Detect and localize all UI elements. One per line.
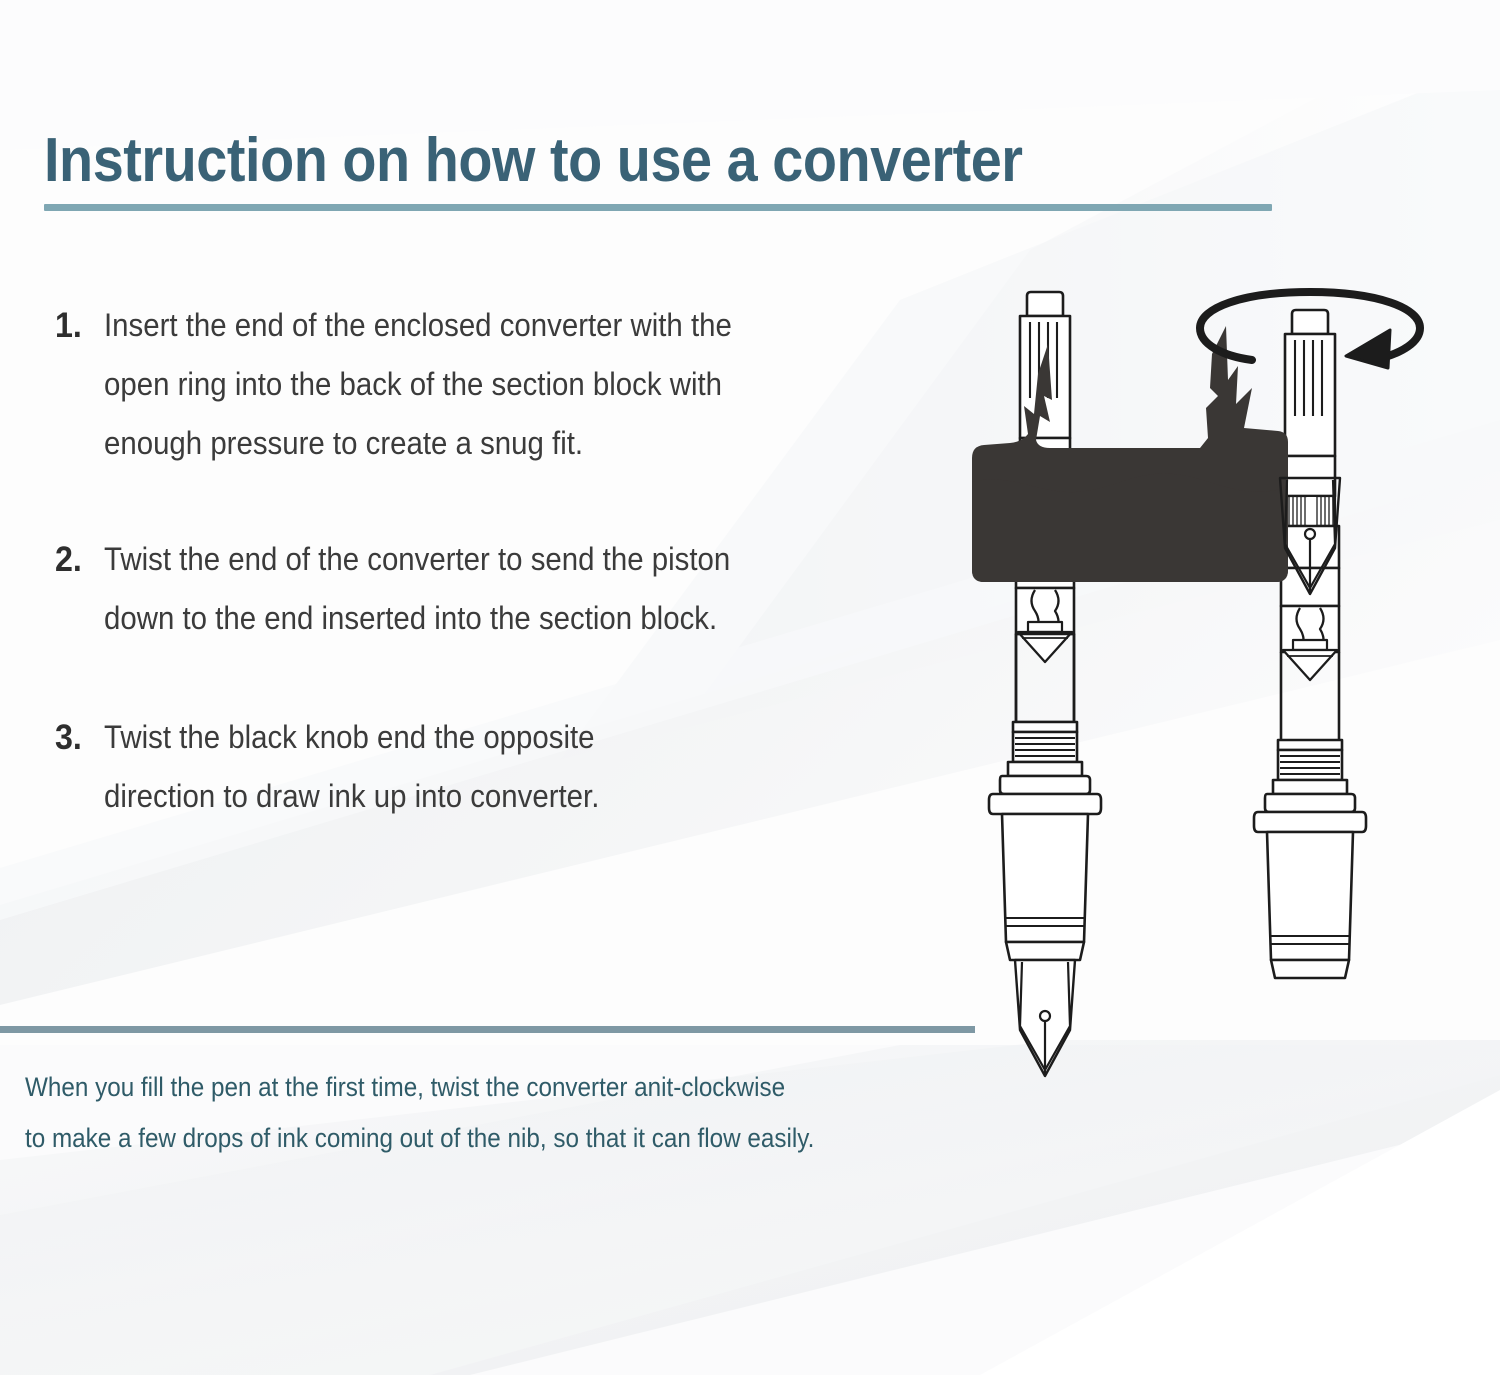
converter-knob-cap (1027, 292, 1063, 316)
step-text: Twist the black knob end the opposite di… (104, 708, 901, 826)
list-item-step-1: 1. Insert the end of the enclosed conver… (55, 296, 985, 473)
pen-nib (1015, 960, 1075, 1076)
section-thread-collar (1000, 722, 1090, 794)
step-text: Twist the end of the converter to send t… (104, 530, 901, 648)
pen-section-grip (1002, 814, 1088, 960)
section-thread-collar (1265, 740, 1355, 812)
converter-knob-cap (1292, 310, 1328, 334)
converter-knob-barrel (1285, 334, 1335, 456)
footer-note-text: When you fill the pen at the first time,… (25, 1062, 958, 1164)
list-item-step-3: 3. Twist the black knob end the opposite… (55, 708, 985, 826)
instruction-page: Instruction on how to use a converter 1.… (0, 0, 1500, 1375)
step-number: 1. (55, 296, 82, 355)
step-text: Insert the end of the enclosed converter… (104, 296, 901, 473)
section-flange (989, 794, 1101, 814)
step-number: 3. (55, 708, 82, 767)
converter-piston (1016, 588, 1074, 662)
converter-body-upper (1285, 456, 1335, 496)
converter-knurled-ring (1285, 496, 1335, 526)
converter-piston (1281, 606, 1339, 680)
footer-divider-rule (0, 1026, 975, 1033)
section-flange (1254, 812, 1366, 832)
title-block: Instruction on how to use a converter (44, 126, 1274, 196)
pen-illustration-group (960, 270, 1500, 1080)
step-number: 2. (55, 530, 82, 589)
page-title: Instruction on how to use a converter (44, 126, 1151, 196)
instruction-steps-list: 1. Insert the end of the enclosed conver… (55, 296, 985, 826)
right-pen-figure (1254, 310, 1366, 978)
pen-section-grip (1267, 832, 1353, 978)
title-underline-rule (44, 204, 1272, 211)
list-item-step-2: 2. Twist the end of the converter to sen… (55, 530, 985, 648)
